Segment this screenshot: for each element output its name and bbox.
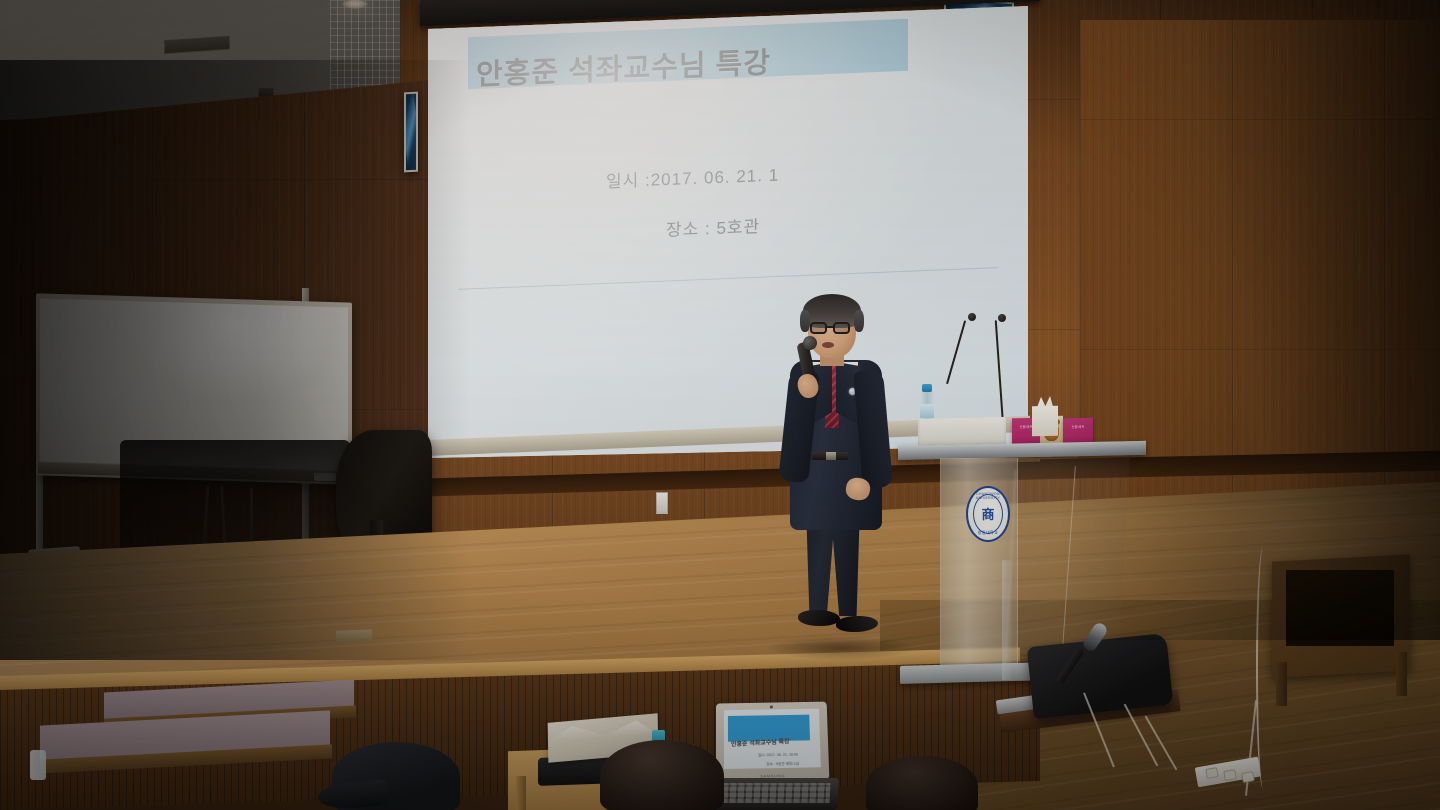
audience-head	[866, 756, 978, 810]
stage-floor-outlet[interactable]	[336, 629, 372, 642]
podium-side-panel	[1018, 458, 1130, 654]
foreground-table-leg	[516, 776, 526, 810]
podium-microphone-head[interactable]	[998, 314, 1006, 322]
laptop[interactable]: 안홍준 석좌교수님 특강 일시 :2017. 06. 21. 16:00 장소 …	[706, 702, 838, 810]
laptop-lid: 안홍준 석좌교수님 특강 일시 :2017. 06. 21. 16:00 장소 …	[716, 702, 829, 782]
wall-cable	[1256, 548, 1270, 788]
podium-glass-edge	[1002, 560, 1012, 680]
emblem-glyph: 商	[981, 508, 994, 521]
laptop-slide-date: 일시 :2017. 06. 21. 16:00	[758, 753, 798, 759]
slide-date-line: 일시 :2017. 06. 21. 1	[606, 161, 779, 193]
bottle-label	[920, 404, 934, 418]
speaker-hair-side	[854, 310, 864, 332]
tissue-box[interactable]	[1032, 406, 1058, 437]
webcam-icon	[770, 705, 773, 708]
eyeglasses-left-lens	[810, 322, 827, 334]
ceiling-downlight	[342, 0, 368, 9]
laptop-keyboard[interactable]	[713, 783, 830, 803]
speaker-mouth	[822, 342, 834, 348]
eyeglasses-bridge	[827, 326, 833, 328]
laptop-screen: 안홍준 석좌교수님 특강 일시 :2017. 06. 21. 16:00 장소 …	[724, 709, 821, 769]
lecture-hall-photo: 안홍준 석좌교수님 특강 일시 :2017. 06. 21. 1 장소 : 5호…	[0, 0, 1440, 810]
audience-head	[600, 740, 724, 810]
speaker-shoe-left	[798, 610, 840, 626]
bottle-cap[interactable]	[922, 384, 932, 392]
laptop-slide-place: 장소 : 5호관 세미나실	[766, 762, 799, 768]
wall-outlet-plate[interactable]	[656, 492, 668, 514]
speaker	[770, 292, 900, 664]
equipment-bag[interactable]	[1027, 633, 1174, 719]
gift-box-label: 선물세트	[1063, 425, 1093, 431]
speaker-belt-buckle	[826, 452, 836, 460]
presentation-slide: 안홍준 석좌교수님 특강 일시 :2017. 06. 21. 1 장소 : 5호…	[428, 6, 1028, 458]
artwork-swoosh	[404, 92, 418, 173]
power-strip-socket[interactable]	[1241, 771, 1255, 783]
emblem-arc-top-text: CHANGWON UNIVERSITY	[968, 492, 1008, 500]
slide-divider-rule	[458, 267, 998, 290]
power-strip-socket[interactable]	[1205, 767, 1219, 779]
water-bottle-on-floor[interactable]	[30, 750, 46, 780]
slide-place-line: 장소 : 5호관	[666, 212, 760, 241]
eyeglasses-right-lens	[833, 322, 850, 334]
power-strip-socket[interactable]	[1223, 769, 1237, 781]
side-table-opening	[1286, 570, 1394, 646]
grand-piano	[336, 430, 432, 548]
speaker-hair-side	[800, 310, 810, 332]
side-table-leg	[1276, 662, 1287, 706]
projection-screen: 안홍준 석좌교수님 특강 일시 :2017. 06. 21. 1 장소 : 5호…	[428, 6, 1028, 458]
framed-artwork-left	[404, 92, 418, 173]
emblem-arc-bottom-text: 창원대학교	[968, 530, 1008, 536]
speaker-shoe-right	[836, 616, 878, 632]
podium-microphone-head[interactable]	[968, 313, 976, 321]
university-emblem: CHANGWON UNIVERSITY 商 창원대학교	[966, 486, 1010, 542]
side-table-leg	[1396, 652, 1407, 696]
